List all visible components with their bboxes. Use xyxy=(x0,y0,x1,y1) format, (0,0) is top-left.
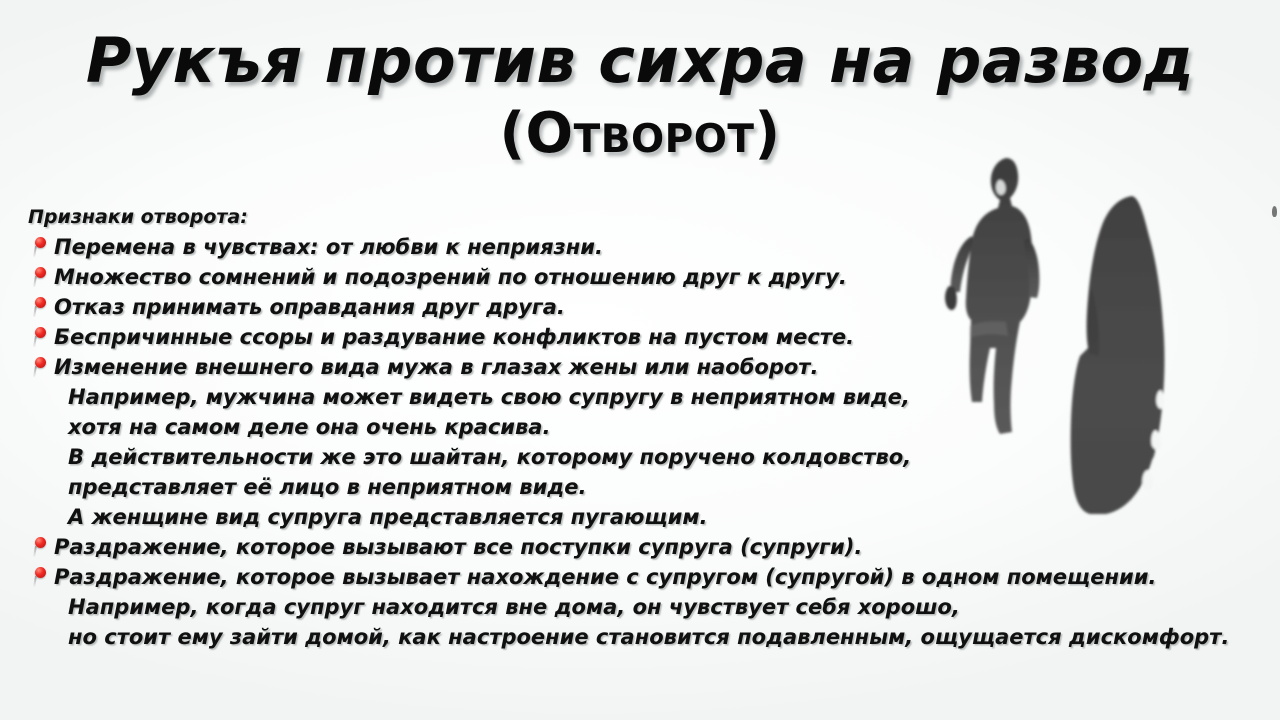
list-item-continuation: В действительности же это шайтан, которо… xyxy=(28,442,1258,472)
pushpin-needle xyxy=(33,366,37,377)
list-item-label: А женщине вид супруга представляется пуг… xyxy=(68,502,707,532)
pushpin-icon xyxy=(30,297,50,319)
pushpin-icon xyxy=(30,237,50,259)
list-item: Множество сомнений и подозрений по отнош… xyxy=(28,262,1258,292)
pushpin-icon xyxy=(30,267,50,289)
list-item-continuation: Например, когда супруг находится вне дом… xyxy=(28,592,1258,622)
list-item: Перемена в чувствах: от любви к неприязн… xyxy=(28,232,1258,262)
list-item-continuation: но стоит ему зайти домой, как настроение… xyxy=(28,622,1258,652)
list-item-continuation: А женщине вид супруга представляется пуг… xyxy=(28,502,1258,532)
pushpin-needle xyxy=(33,576,37,587)
list-item-label: Отказ принимать оправдания друг друга. xyxy=(54,292,565,322)
pushpin-needle xyxy=(33,276,37,287)
page-title: Рукъя против сихра на развод (Отворот) xyxy=(0,24,1280,168)
list-item-label: Например, мужчина может видеть свою супр… xyxy=(68,382,910,412)
list-item-continuation: хотя на самом деле она очень красива. xyxy=(28,412,1258,442)
list-item-label: Раздражение, которое вызывают все поступ… xyxy=(54,532,862,562)
list-item-continuation: представляет её лицо в неприятном виде. xyxy=(28,472,1258,502)
list-item: Раздражение, которое вызывает нахождение… xyxy=(28,562,1258,592)
pushpin-icon xyxy=(30,357,50,379)
pushpin-icon xyxy=(30,567,50,589)
pushpin-needle xyxy=(33,546,37,557)
pushpin-needle xyxy=(33,336,37,347)
pushpin-icon xyxy=(30,537,50,559)
list-item: Беспричинные ссоры и раздувание конфликт… xyxy=(28,322,1258,352)
signs-list: Признаки отворота: Перемена в чувствах: … xyxy=(28,203,1258,652)
list-item: Раздражение, которое вызывают все поступ… xyxy=(28,532,1258,562)
list-item-label: Множество сомнений и подозрений по отнош… xyxy=(54,262,847,292)
list-item-label: Перемена в чувствах: от любви к неприязн… xyxy=(54,232,603,262)
background-speck xyxy=(1272,206,1277,217)
list-heading: Признаки отворота: xyxy=(28,203,1258,231)
list-item: Отказ принимать оправдания друг друга. xyxy=(28,292,1258,322)
pushpin-icon xyxy=(30,327,50,349)
list-item-label: хотя на самом деле она очень красива. xyxy=(68,412,550,442)
list-item: Изменение внешнего вида мужа в глазах же… xyxy=(28,352,1258,382)
list-lines: Перемена в чувствах: от любви к неприязн… xyxy=(28,232,1258,652)
list-item-label: Беспричинные ссоры и раздувание конфликт… xyxy=(54,322,854,352)
slide-canvas: Рукъя против сихра на развод (Отворот) xyxy=(0,0,1280,720)
list-item-label: В действительности же это шайтан, которо… xyxy=(68,442,911,472)
list-item-label: Раздражение, которое вызывает нахождение… xyxy=(54,562,1156,592)
list-item-label: Например, когда супруг находится вне дом… xyxy=(68,592,960,622)
list-item-label: Изменение внешнего вида мужа в глазах же… xyxy=(54,352,818,382)
list-item-label: представляет её лицо в неприятном виде. xyxy=(68,472,586,502)
title-line-primary: Рукъя против сихра на развод xyxy=(0,24,1280,98)
list-item-label: но стоит ему зайти домой, как настроение… xyxy=(68,622,1229,652)
pushpin-needle xyxy=(33,246,37,257)
pushpin-needle xyxy=(33,306,37,317)
list-item-continuation: Например, мужчина может видеть свою супр… xyxy=(28,382,1258,412)
title-line-secondary: (Отворот) xyxy=(0,100,1280,168)
